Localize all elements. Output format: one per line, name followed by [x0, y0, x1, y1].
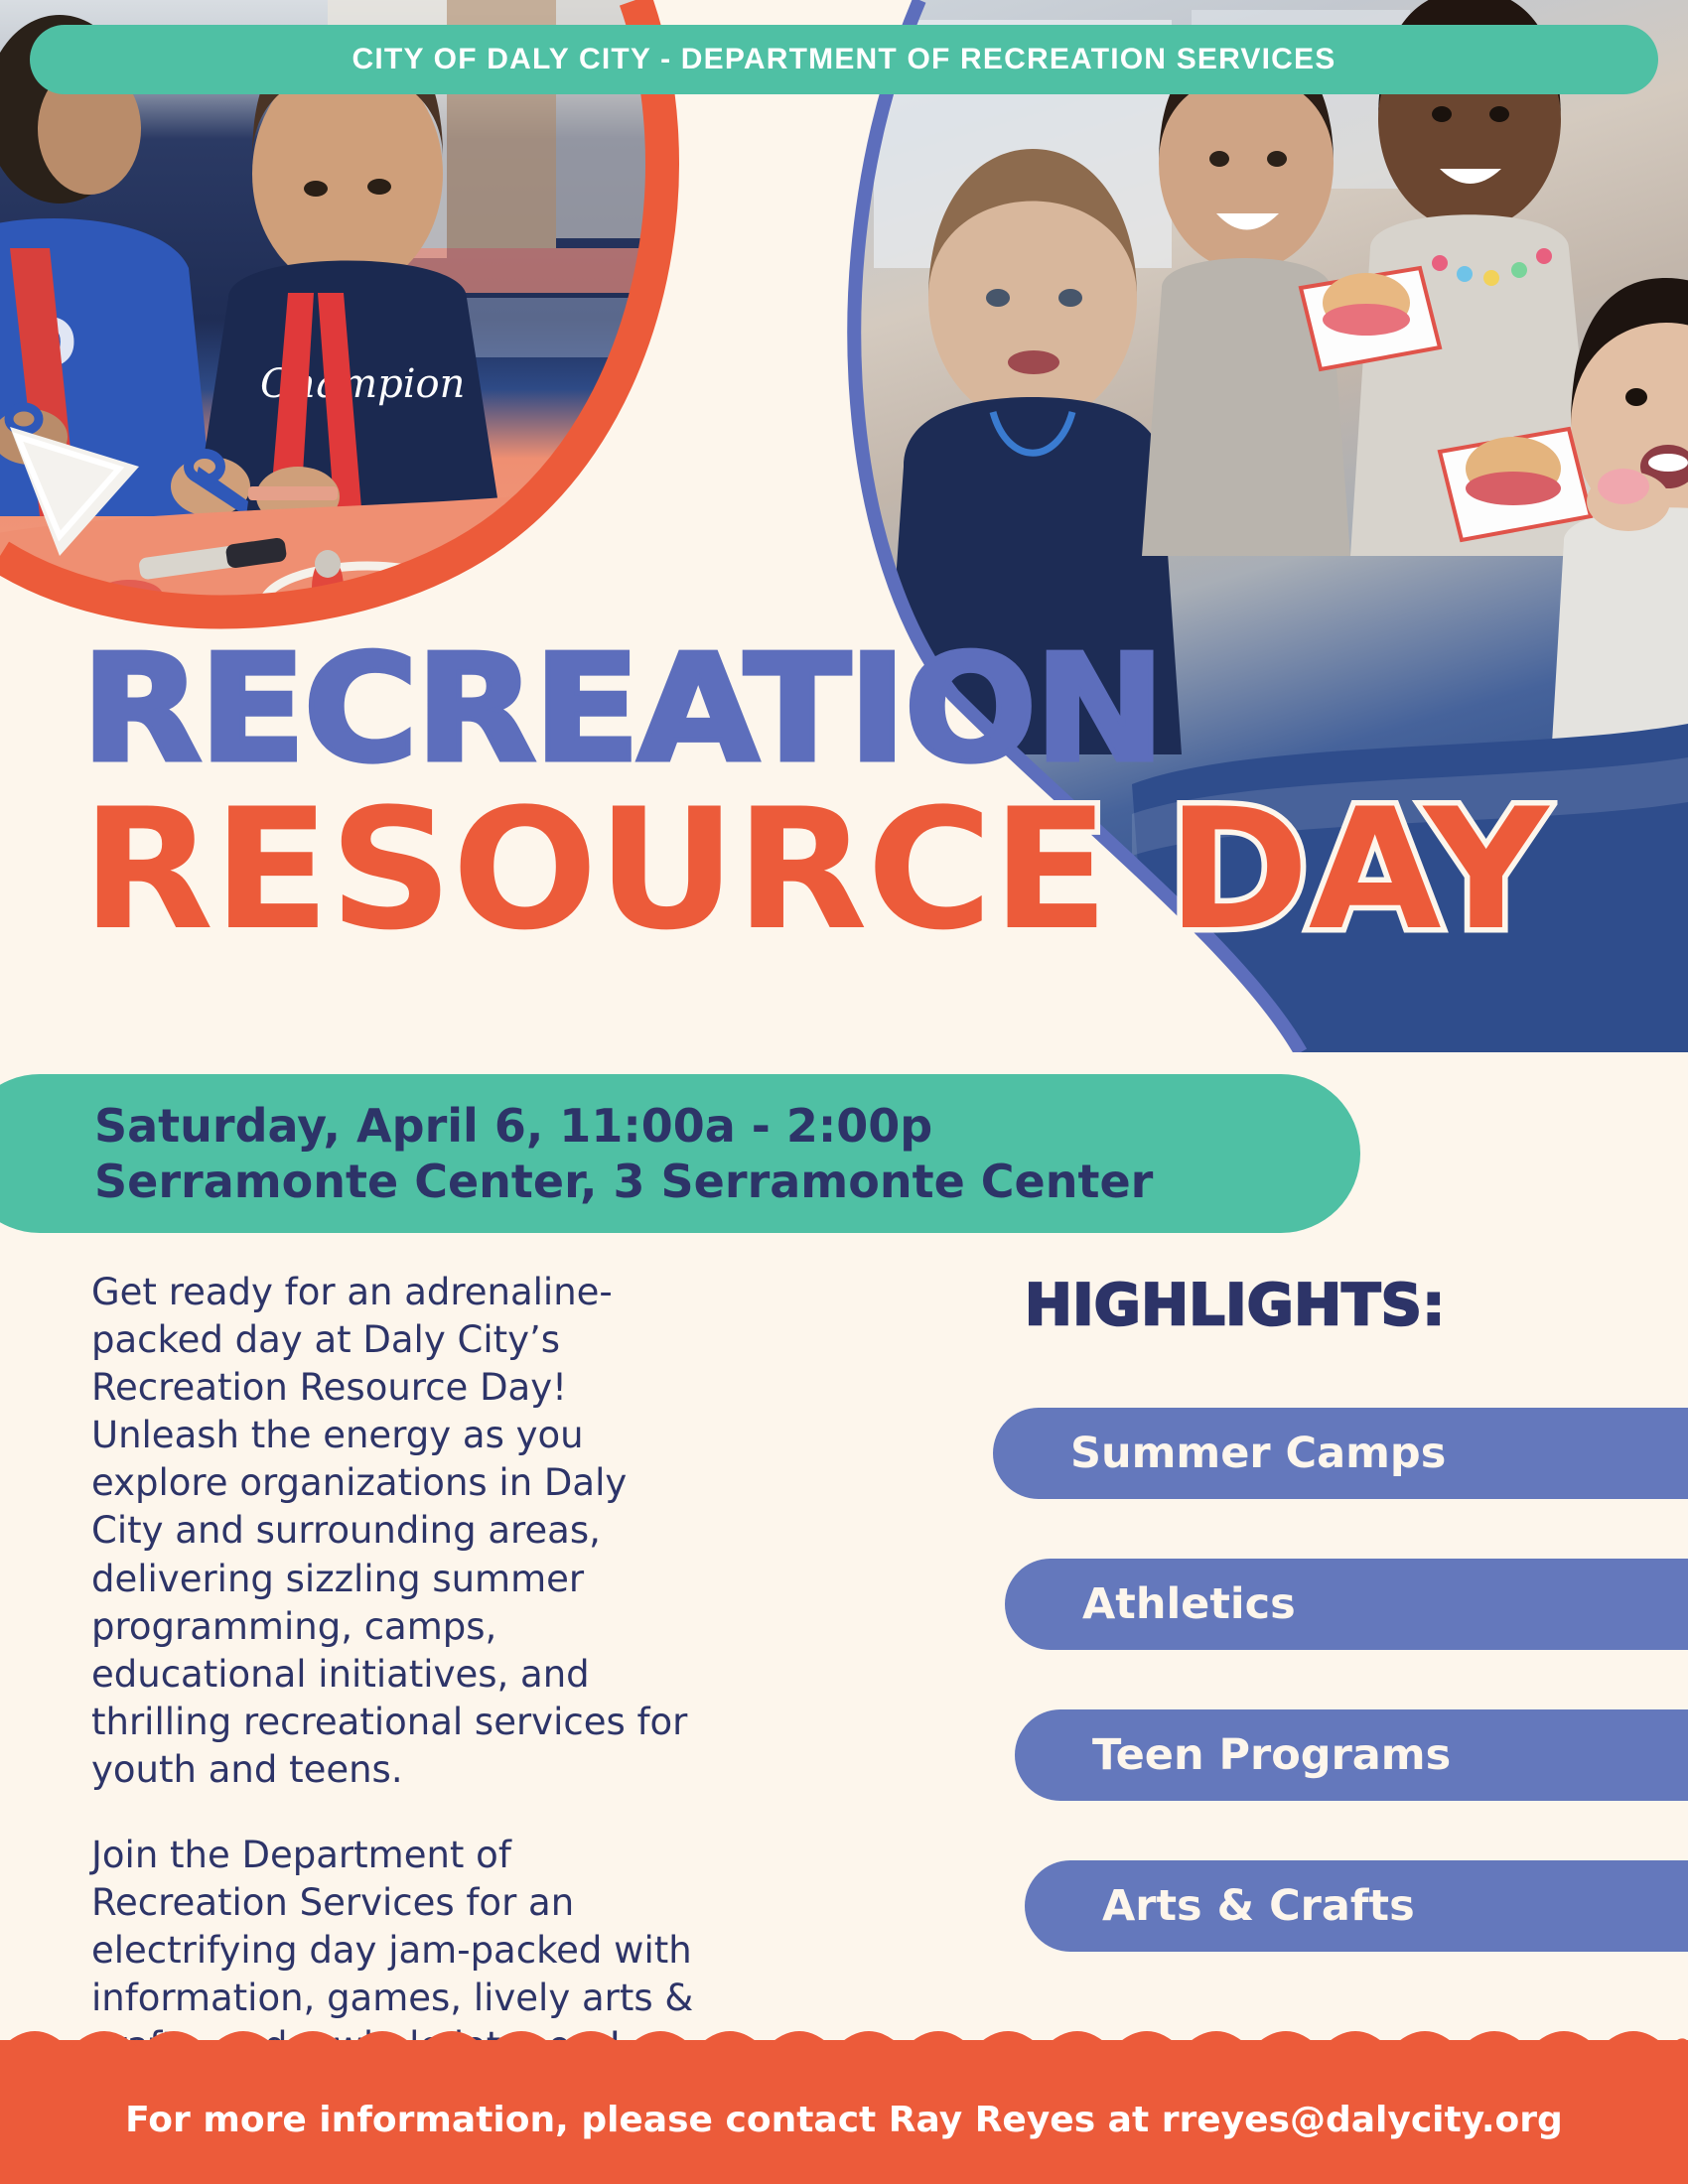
highlight-pill-teen-programs: Teen Programs — [1015, 1709, 1688, 1801]
body-paragraph-1: Get ready for an adrenaline-packed day a… — [91, 1269, 707, 1794]
body-copy: Get ready for an adrenaline-packed day a… — [91, 1269, 707, 2071]
highlight-label: Athletics — [1005, 1579, 1296, 1629]
title-line-resource-day: RESOURCE DAY — [81, 786, 1547, 953]
page-title: RECREATION RESOURCE DAY — [0, 635, 1688, 1013]
event-details-banner: Saturday, April 6, 11:00a - 2:00p Serram… — [0, 1074, 1360, 1233]
flyer-canvas: D Champion — [0, 0, 1688, 2184]
header-banner-text: CITY OF DALY CITY - DEPARTMENT OF RECREA… — [352, 43, 1336, 76]
highlight-pill-summer-camps: Summer Camps — [993, 1408, 1688, 1499]
highlight-pill-arts-crafts: Arts & Crafts — [1025, 1860, 1688, 1952]
event-date: Saturday, April 6, 11:00a - 2:00p — [0, 1098, 1360, 1154]
scalloped-divider — [0, 2025, 1688, 2065]
highlight-label: Teen Programs — [1015, 1730, 1451, 1780]
event-location: Serramonte Center, 3 Serramonte Center — [0, 1154, 1360, 1209]
footer-contact-text: For more information, please contact Ray… — [0, 2100, 1688, 2140]
highlight-label: Summer Camps — [993, 1429, 1446, 1478]
title-line-recreation: RECREATION — [81, 635, 1163, 782]
kids-doing-crafts-photo: D Champion — [0, 0, 894, 695]
highlight-pill-athletics: Athletics — [1005, 1559, 1688, 1650]
highlights-heading: HIGHLIGHTS: — [1025, 1273, 1446, 1338]
highlight-label: Arts & Crafts — [1025, 1881, 1415, 1931]
header-banner: CITY OF DALY CITY - DEPARTMENT OF RECREA… — [30, 25, 1658, 94]
